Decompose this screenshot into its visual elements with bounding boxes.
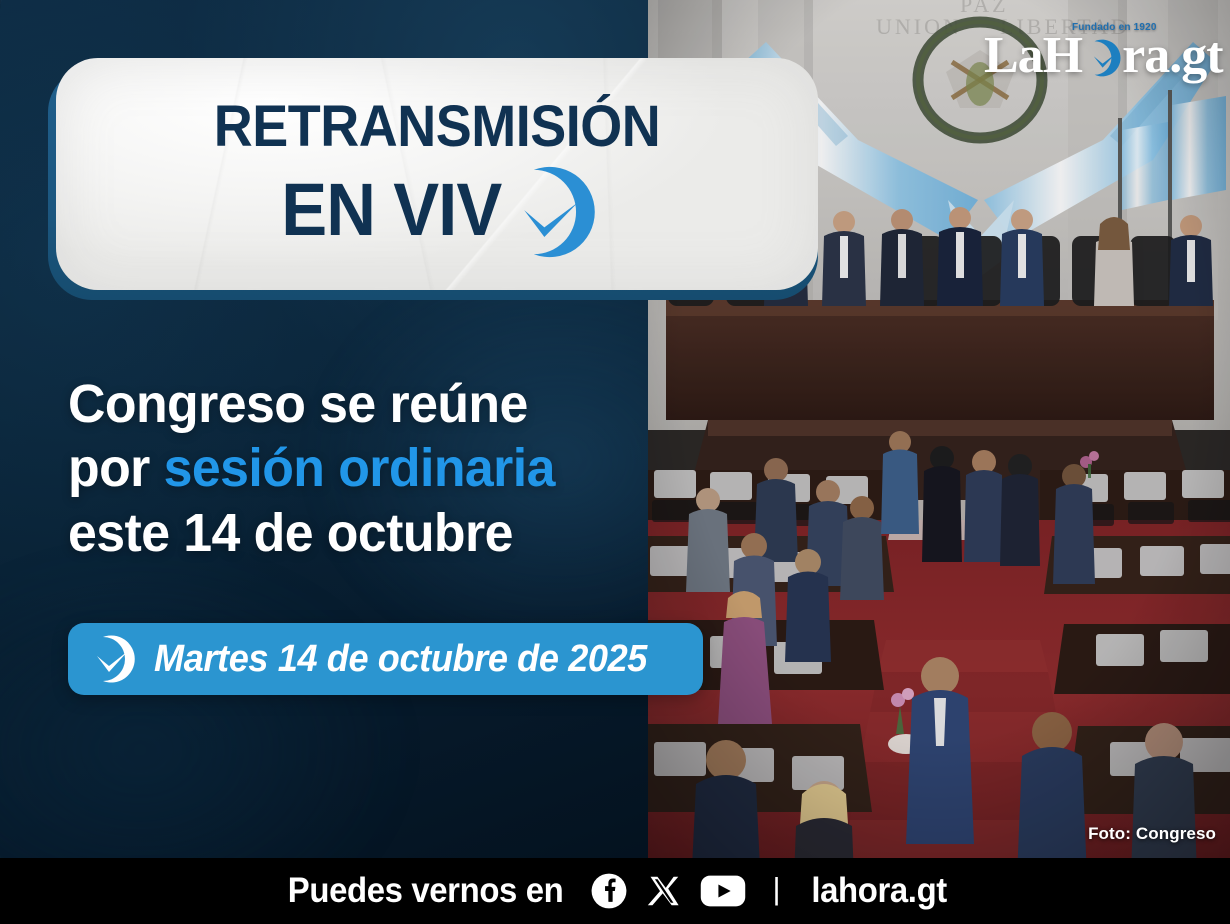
card-title-line2: EN VIV bbox=[281, 173, 501, 247]
footer-bar: Puedes vernos en | lahora.gt bbox=[0, 858, 1230, 924]
youtube-icon[interactable] bbox=[700, 873, 746, 909]
headline-line-3: este 14 de octubre bbox=[68, 501, 625, 565]
footer-socials bbox=[590, 872, 746, 910]
logo-swoosh-icon bbox=[1085, 36, 1125, 80]
lahora-logo[interactable]: Fundado en 1920 LaHra.gt bbox=[984, 24, 1214, 86]
headline-line-2: por sesión ordinaria bbox=[68, 436, 625, 500]
headline: Congreso se reúne por sesión ordinaria e… bbox=[68, 372, 648, 565]
header-card: RETRANSMISIÓN EN VIV bbox=[56, 58, 818, 290]
livestream-check-icon bbox=[90, 634, 140, 684]
facebook-icon[interactable] bbox=[590, 872, 628, 910]
poster-canvas: UNION LIBERTAD PAZ bbox=[0, 0, 1230, 924]
headline-line-1: Congreso se reúne bbox=[68, 372, 625, 436]
footer-prompt: Puedes vernos en bbox=[288, 871, 564, 911]
date-badge: Martes 14 de octubre de 2025 bbox=[68, 623, 703, 695]
headline-line-2-prefix: por bbox=[68, 438, 164, 498]
logo-wordmark-tail: ra.gt bbox=[1122, 30, 1222, 82]
x-twitter-icon[interactable] bbox=[646, 873, 682, 909]
footer-separator: | bbox=[772, 871, 780, 907]
logo-wordmark-head: LaH bbox=[984, 30, 1082, 82]
headline-line-2-accent: sesión ordinaria bbox=[164, 438, 555, 498]
photo-credit: Foto: Congreso bbox=[1088, 824, 1216, 844]
footer-site[interactable]: lahora.gt bbox=[811, 871, 947, 911]
panel-glow-lower bbox=[0, 560, 400, 858]
card-title-line2-wrap: EN VIV bbox=[273, 162, 602, 258]
facebook-link[interactable] bbox=[590, 872, 628, 910]
card-title-line1: RETRANSMISIÓN bbox=[214, 98, 660, 156]
livestream-o-icon bbox=[505, 164, 601, 260]
youtube-link[interactable] bbox=[700, 873, 746, 909]
date-badge-text: Martes 14 de octubre de 2025 bbox=[154, 638, 647, 681]
x-twitter-link[interactable] bbox=[646, 873, 682, 909]
